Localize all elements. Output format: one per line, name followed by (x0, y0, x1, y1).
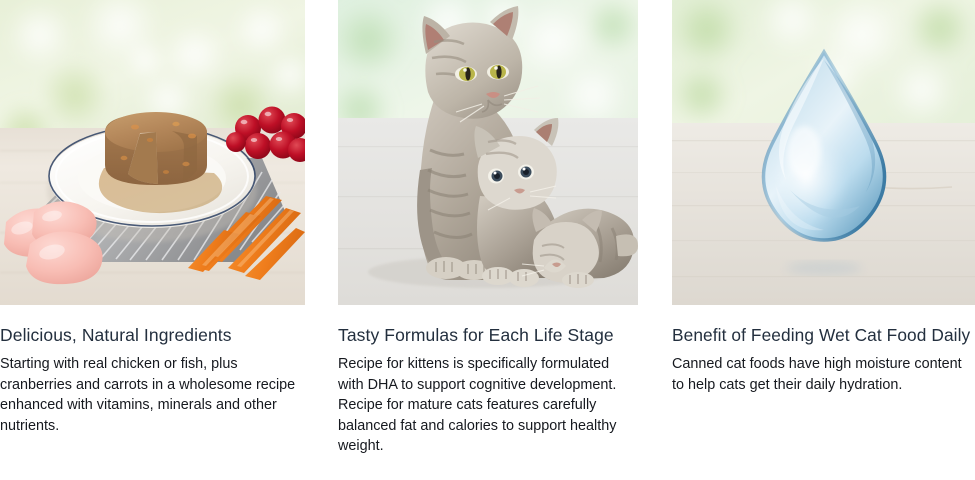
cat-and-kittens-illustration (338, 0, 638, 305)
water-droplet-illustration (672, 0, 975, 305)
feature-image-droplet (672, 0, 975, 305)
feature-title: Delicious, Natural Ingredients (0, 324, 305, 346)
food-plate-illustration (0, 0, 305, 305)
feature-title: Benefit of Feeding Wet Cat Food Daily (672, 324, 975, 346)
pate-loaf (105, 112, 207, 185)
feature-body: Recipe for kittens is specifically formu… (338, 354, 638, 457)
feature-grid: Delicious, Natural Ingredients Starting … (0, 0, 975, 480)
feature-column-1: Delicious, Natural Ingredients Starting … (0, 0, 305, 436)
feature-column-2: Tasty Formulas for Each Life Stage Recip… (338, 0, 638, 457)
feature-body: Starting with real chicken or fish, plus… (0, 354, 305, 436)
feature-body: Canned cat foods have high moisture cont… (672, 354, 975, 395)
feature-image-food (0, 0, 305, 305)
feature-image-cats (338, 0, 638, 305)
feature-title: Tasty Formulas for Each Life Stage (338, 324, 638, 346)
feature-column-3: Benefit of Feeding Wet Cat Food Daily Ca… (672, 0, 975, 395)
